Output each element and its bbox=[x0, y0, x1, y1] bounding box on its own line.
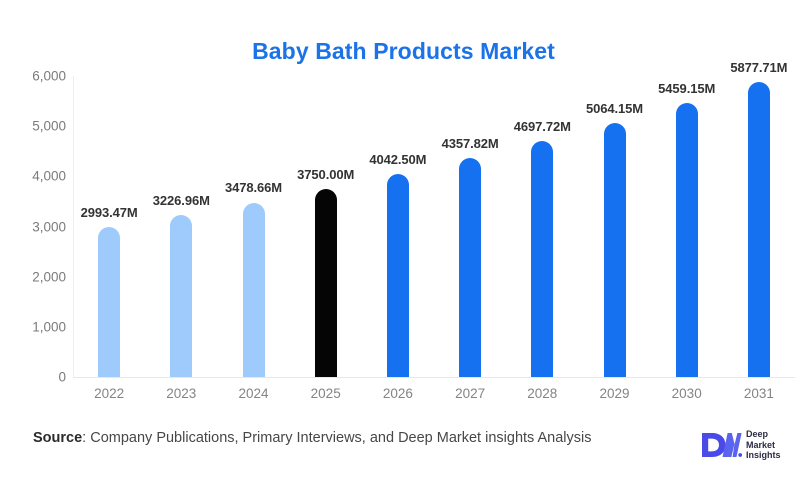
chart-title: Baby Bath Products Market bbox=[0, 38, 807, 65]
x-axis-tick-label-2026: 2026 bbox=[383, 386, 413, 401]
deep-market-insights-logo: Deep Market Insights bbox=[700, 424, 800, 466]
bar-2027[interactable] bbox=[459, 158, 481, 377]
bar-2028[interactable] bbox=[531, 141, 553, 377]
bar-value-label-2030: 5459.15M bbox=[658, 81, 715, 96]
brand-wordmark: Deep Market Insights bbox=[746, 429, 781, 461]
bar-value-label-2024: 3478.66M bbox=[225, 180, 282, 195]
market-forecast-chart-card: Baby Bath Products Market 01,0002,0003,0… bbox=[0, 0, 807, 492]
source-label: Source bbox=[33, 430, 82, 446]
y-axis-tick-label: 3,000 bbox=[0, 219, 66, 234]
x-axis-tick-label-2022: 2022 bbox=[94, 386, 124, 401]
x-axis-tick-label-2023: 2023 bbox=[166, 386, 196, 401]
bar-2025[interactable] bbox=[315, 189, 337, 377]
x-axis-tick-label-2024: 2024 bbox=[238, 386, 268, 401]
brand-line-1: Deep bbox=[746, 429, 781, 440]
bar-value-label-2023: 3226.96M bbox=[153, 193, 210, 208]
bar-value-label-2026: 4042.50M bbox=[369, 152, 426, 167]
x-axis-tick-label-2028: 2028 bbox=[527, 386, 557, 401]
bar-2026[interactable] bbox=[387, 174, 409, 377]
bar-2029[interactable] bbox=[604, 123, 626, 377]
source-value: Company Publications, Primary Interviews… bbox=[90, 430, 591, 446]
bar-value-label-2027: 4357.82M bbox=[442, 136, 499, 151]
bar-2024[interactable] bbox=[243, 203, 265, 378]
bar-value-label-2022: 2993.47M bbox=[81, 205, 138, 220]
bar-2031[interactable] bbox=[748, 82, 770, 377]
y-axis-tick-label: 6,000 bbox=[0, 69, 66, 84]
dm-monogram-icon bbox=[700, 430, 742, 460]
bar-2022[interactable] bbox=[98, 227, 120, 377]
bar-value-label-2029: 5064.15M bbox=[586, 101, 643, 116]
x-axis-tick-label-2027: 2027 bbox=[455, 386, 485, 401]
source-note: Source: Company Publications, Primary In… bbox=[33, 430, 592, 446]
bar-value-label-2025: 3750.00M bbox=[297, 167, 354, 182]
bar-value-label-2028: 4697.72M bbox=[514, 119, 571, 134]
y-axis-tick-label: 1,000 bbox=[0, 319, 66, 334]
x-axis: 2022202320242025202620272028202920302031 bbox=[73, 386, 795, 408]
brand-line-2: Market bbox=[746, 440, 781, 451]
x-axis-tick-label-2031: 2031 bbox=[744, 386, 774, 401]
bar-value-label-2031: 5877.71M bbox=[730, 60, 787, 75]
bar-2030[interactable] bbox=[676, 103, 698, 377]
bar-2023[interactable] bbox=[170, 215, 192, 377]
x-axis-tick-label-2025: 2025 bbox=[311, 386, 341, 401]
bars-layer: 2993.47M3226.96M3478.66M3750.00M4042.50M… bbox=[73, 76, 795, 377]
x-axis-tick-label-2030: 2030 bbox=[672, 386, 702, 401]
y-axis-tick-label: 4,000 bbox=[0, 169, 66, 184]
y-axis-tick-label: 0 bbox=[0, 370, 66, 385]
x-axis-tick-label-2029: 2029 bbox=[599, 386, 629, 401]
y-axis: 01,0002,0003,0004,0005,0006,000 bbox=[0, 76, 66, 378]
brand-line-3: Insights bbox=[746, 450, 781, 461]
y-axis-tick-label: 5,000 bbox=[0, 119, 66, 134]
y-axis-tick-label: 2,000 bbox=[0, 269, 66, 284]
chart-footer: Source: Company Publications, Primary In… bbox=[0, 420, 807, 492]
